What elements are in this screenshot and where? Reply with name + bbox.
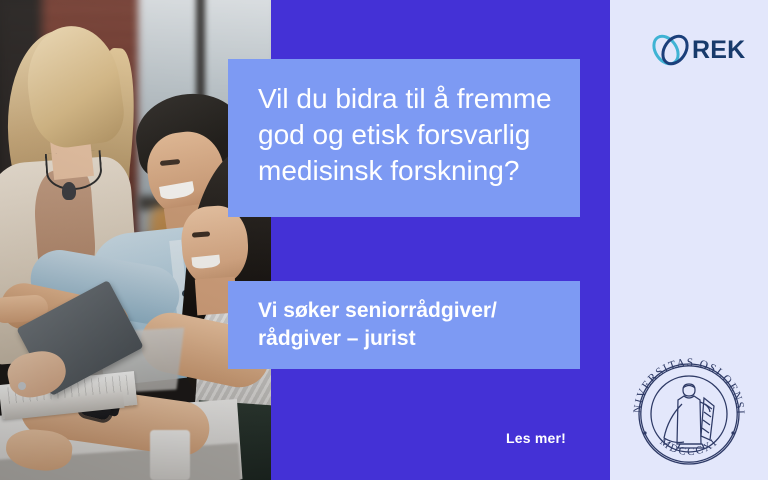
logo-panel: REK UNIVERSITAS OSLOENSIS MDCCCXI bbox=[610, 0, 768, 480]
subhead-box: Vi søker seniorrådgiver/ rådgiver – juri… bbox=[228, 281, 580, 369]
headline-line-1: Vil du bidra til å fremme bbox=[258, 81, 550, 117]
subhead-line-1: Vi søker seniorrådgiver/ bbox=[258, 297, 550, 325]
uio-seal-icon: UNIVERSITAS OSLOENSIS MDCCCXI bbox=[622, 358, 756, 470]
person-blonde-pendant bbox=[62, 182, 76, 200]
headline-box: Vil du bidra til å fremme god og etisk f… bbox=[228, 59, 580, 217]
headline-line-2: god og etisk forsvarlig bbox=[258, 117, 550, 153]
read-more-link[interactable]: Les mer! bbox=[506, 430, 566, 446]
rek-wordmark: REK bbox=[692, 38, 745, 63]
paper-cup bbox=[150, 430, 190, 480]
recruitment-banner: REK UNIVERSITAS OSLOENSIS MDCCCXI bbox=[0, 0, 768, 480]
finger-ring bbox=[18, 382, 26, 390]
rek-logo: REK bbox=[648, 26, 752, 74]
subhead-line-2: rådgiver – jurist bbox=[258, 325, 550, 353]
seal-dot-right bbox=[731, 431, 734, 434]
seal-apollo-figure bbox=[664, 384, 714, 448]
headline-line-3: medisinsk forskning? bbox=[258, 153, 550, 189]
seal-dot-left bbox=[643, 431, 646, 434]
rek-rings-icon bbox=[648, 28, 694, 72]
